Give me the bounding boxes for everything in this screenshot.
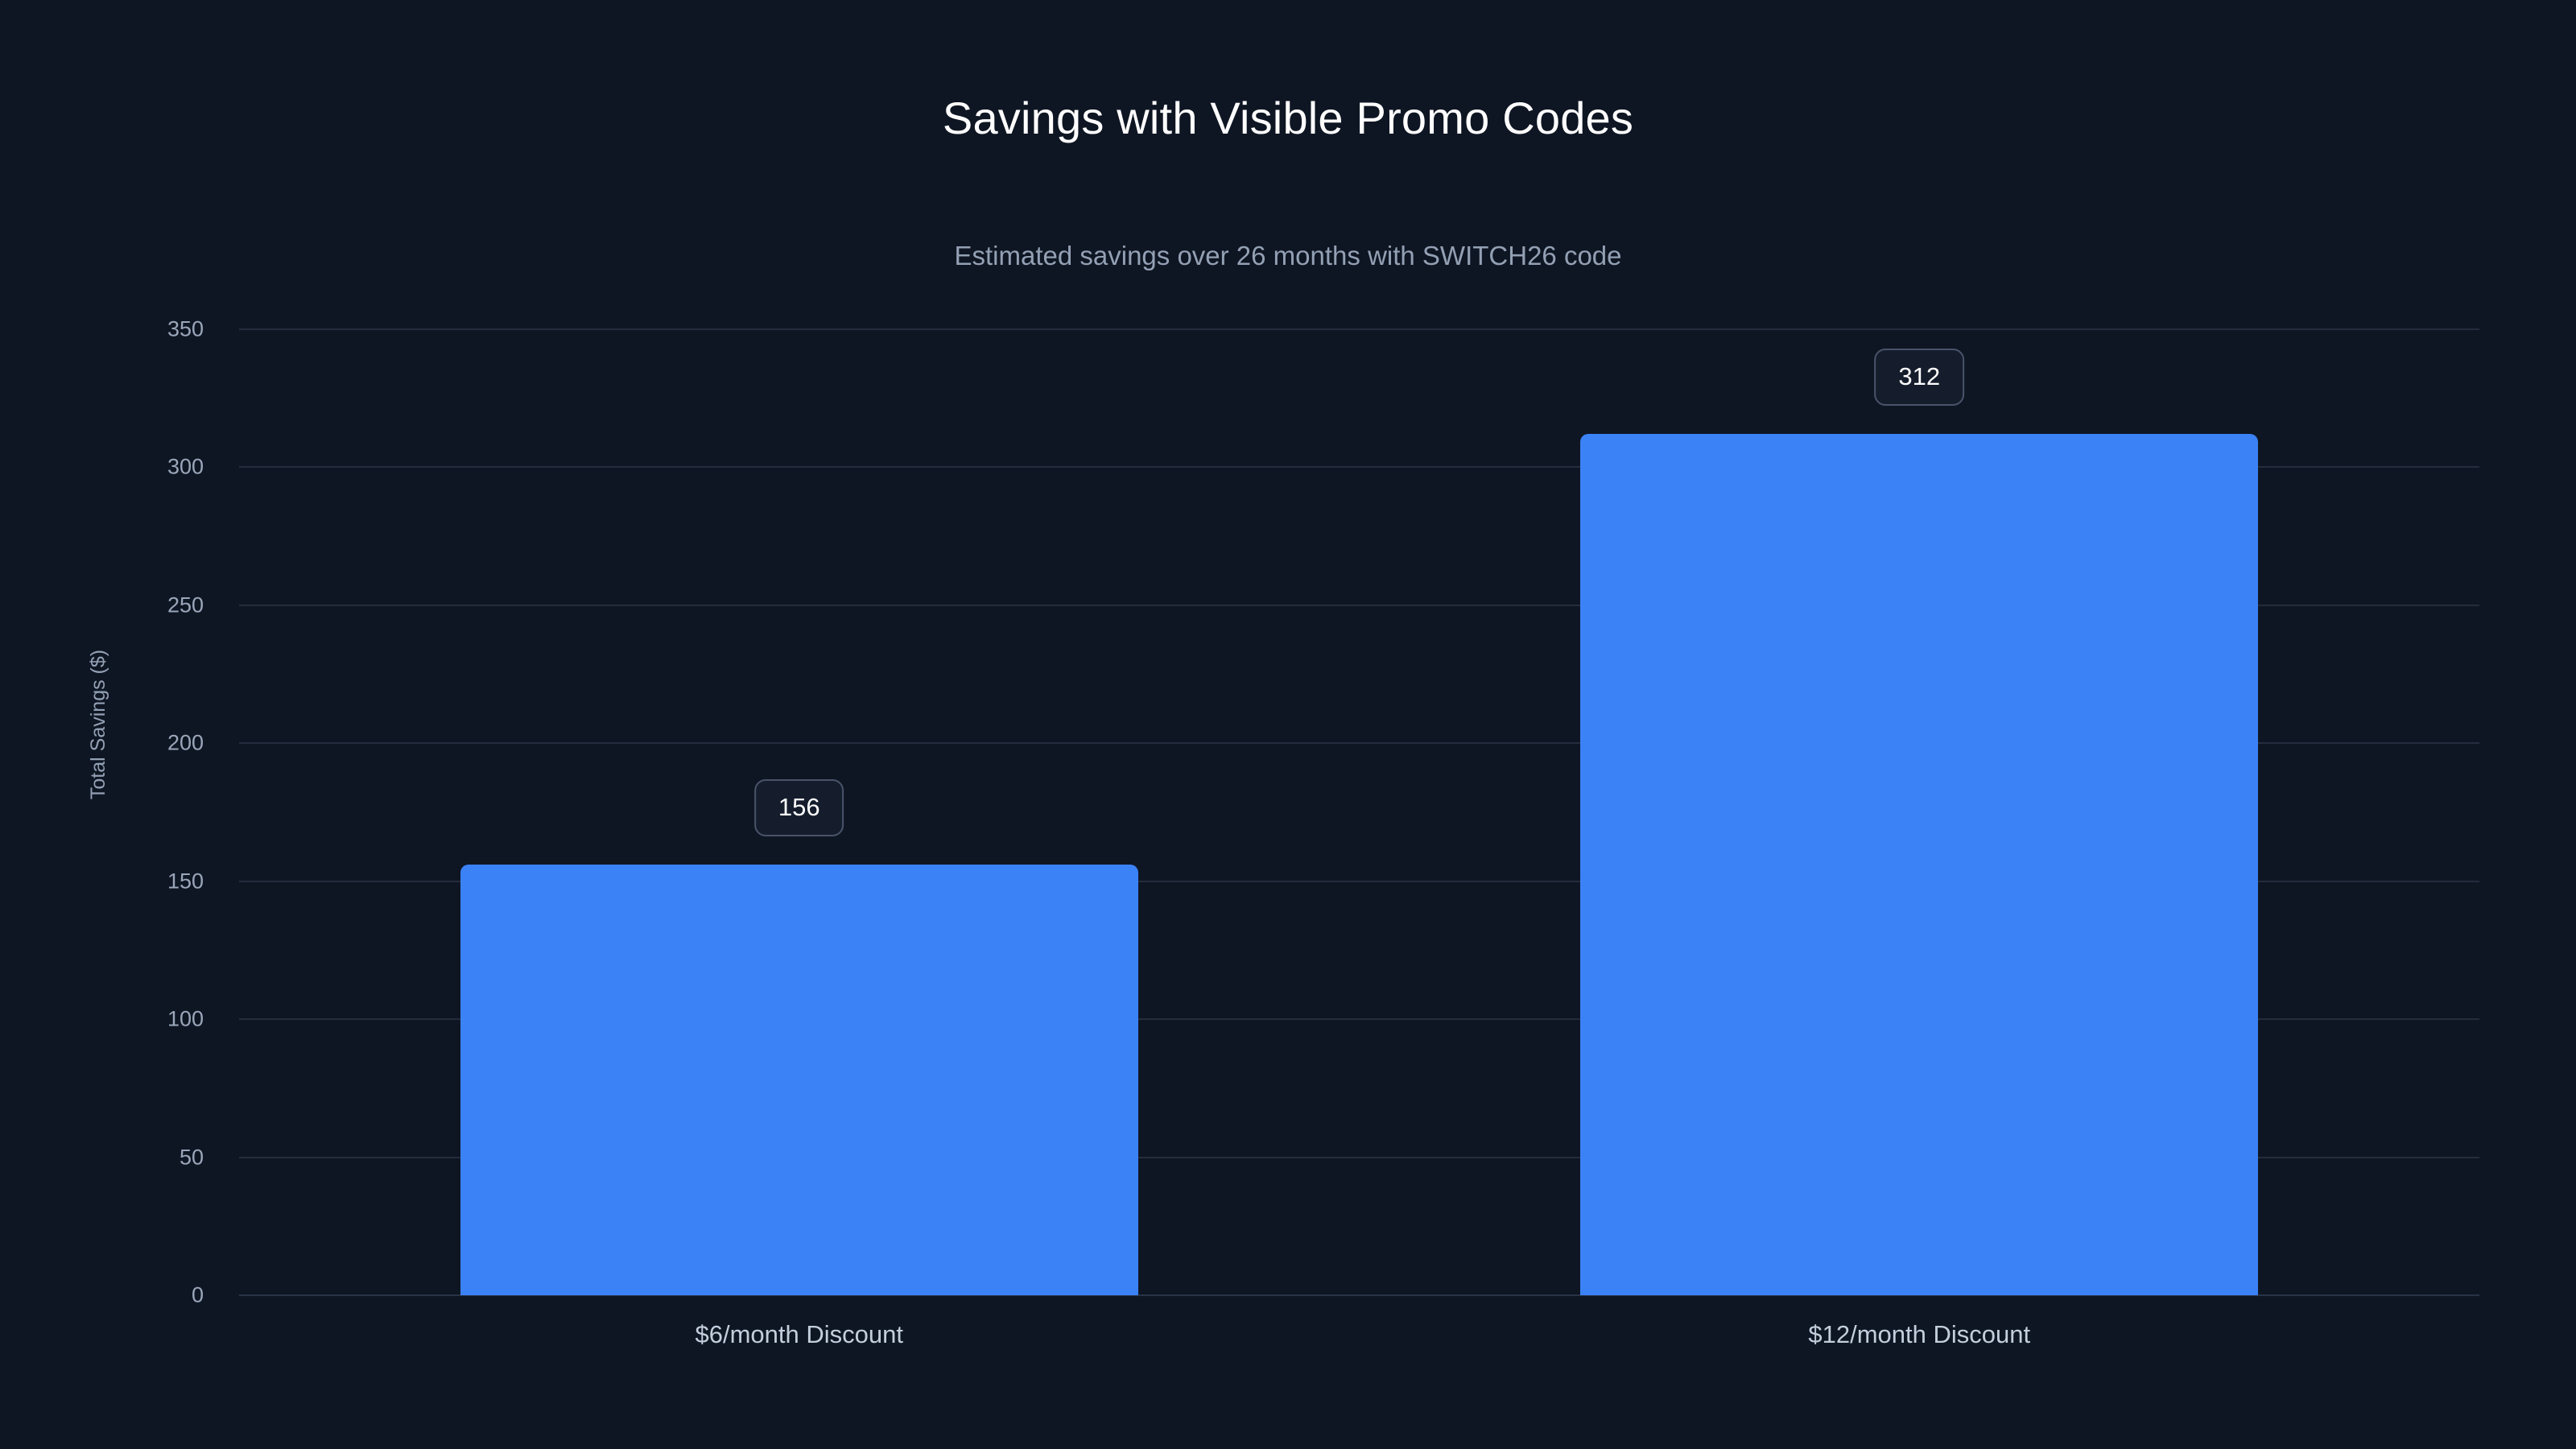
- bar-chart-figure: Savings with Visible Promo Codes Estimat…: [0, 0, 2576, 1449]
- y-axis-tick-label: 50: [180, 1145, 204, 1170]
- y-axis-tick-label: 150: [167, 869, 204, 894]
- y-axis-tick-label: 350: [167, 317, 204, 342]
- y-axis-tick-label: 250: [167, 592, 204, 617]
- gridline: [239, 328, 2479, 330]
- y-axis-tick-label: 100: [167, 1007, 204, 1032]
- x-axis-category-labels: $6/month Discount$12/month Discount: [239, 1320, 2479, 1368]
- y-axis-tick-label: 0: [192, 1283, 204, 1308]
- bar[interactable]: [1580, 434, 2258, 1295]
- x-axis-category-label: $6/month Discount: [696, 1320, 903, 1349]
- plot-area: 156312: [239, 329, 2479, 1295]
- y-axis-tick-labels: 050100150200250300350: [0, 329, 239, 1295]
- chart-subtitle: Estimated savings over 26 months with SW…: [0, 242, 2576, 270]
- y-axis-tick-label: 200: [167, 731, 204, 756]
- x-axis-category-label: $12/month Discount: [1808, 1320, 2030, 1349]
- bar[interactable]: [460, 865, 1138, 1295]
- y-axis-tick-label: 300: [167, 455, 204, 480]
- bar-value-label: 156: [754, 779, 844, 836]
- bar-value-label: 312: [1874, 349, 1964, 406]
- chart-title: Savings with Visible Promo Codes: [0, 93, 2576, 143]
